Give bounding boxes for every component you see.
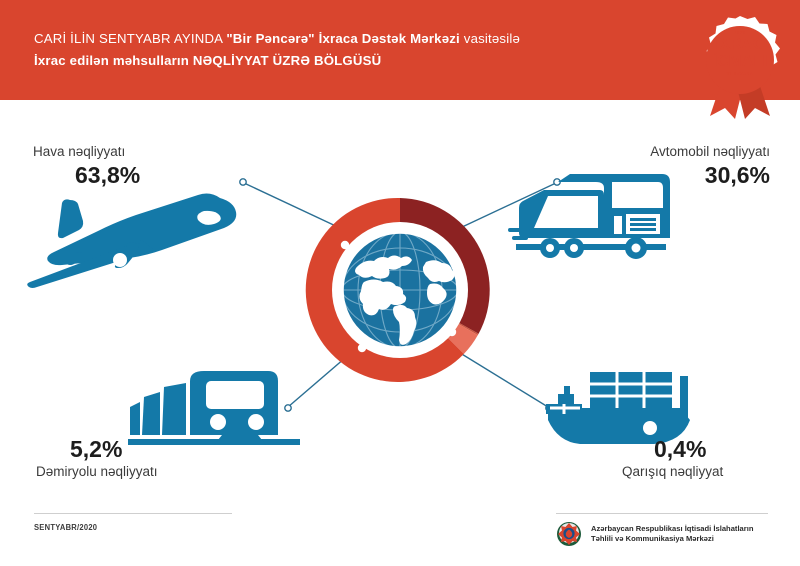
transport-share-donut-chart: [300, 190, 500, 390]
stat-rail-label: Dəmiryolu nəqliyyatı: [36, 463, 206, 481]
stat-mixed-label: Qarışıq nəqliyyat: [622, 463, 782, 481]
badge-rosette-icon: [694, 12, 786, 120]
stat-road-label: Avtomobil nəqliyyatı: [640, 143, 770, 161]
stat-road-transport: Avtomobil nəqliyyatı 30,6%: [640, 143, 770, 189]
stat-mixed-transport: 0,4% Qarışıq nəqliyyat: [622, 435, 782, 481]
stat-air-transport: Hava nəqliyyatı 63,8%: [33, 143, 140, 189]
azerbaijan-emblem-icon: [556, 521, 582, 547]
header-line-1-prefix: CARİ İLİN SENTYABR AYINDA: [34, 31, 226, 46]
globe-icon: [338, 228, 462, 352]
stat-rail-transport: 5,2% Dəmiryolu nəqliyyatı: [36, 435, 206, 481]
ixrac-icmali-badge: 2020 İXRAC İCMALI SENTYABR: [694, 12, 786, 120]
header-line-1: CARİ İLİN SENTYABR AYINDA "Bir Pəncərə" …: [34, 28, 634, 50]
header-line-2-prefix: İxrac edilən məhsulların: [34, 53, 193, 68]
airplane-icon: [24, 178, 256, 290]
footer-org-line-2: Təhlili və Kommunikasiya Mərkəzi: [591, 534, 753, 545]
header-line-2: İxrac edilən məhsulların NƏQLİYYAT ÜZRƏ …: [34, 50, 634, 72]
footer-org-line-1: Azərbaycan Respublikası İqtisadi İslahat…: [591, 524, 753, 535]
header-line-1-suffix: vasitəsilə: [460, 31, 520, 46]
stat-rail-value: 5,2%: [36, 435, 206, 463]
footer-organization: Azərbaycan Respublikası İqtisadi İslahat…: [556, 521, 753, 547]
donut-and-globe-svg: [300, 190, 500, 390]
footer-period: SENTYABR/2020: [34, 522, 97, 532]
stat-air-label: Hava nəqliyyatı: [33, 143, 140, 161]
header-line-2-emphasis: NƏQLİYYAT ÜZRƏ BÖLGÜSÜ: [193, 53, 381, 68]
header-title-block: CARİ İLİN SENTYABR AYINDA "Bir Pəncərə" …: [34, 28, 634, 72]
infographic-root: CARİ İLİN SENTYABR AYINDA "Bir Pəncərə" …: [0, 0, 800, 566]
header-line-1-emphasis: "Bir Pəncərə" İxraca Dəstək Mərkəzi: [226, 31, 460, 46]
stat-mixed-value: 0,4%: [622, 435, 782, 463]
footer-divider-left: [34, 513, 232, 514]
stat-road-value: 30,6%: [640, 161, 770, 189]
footer-organization-text: Azərbaycan Respublikası İqtisadi İslahat…: [591, 524, 753, 545]
footer-divider-right: [556, 513, 768, 514]
stat-air-value: 63,8%: [33, 161, 140, 189]
